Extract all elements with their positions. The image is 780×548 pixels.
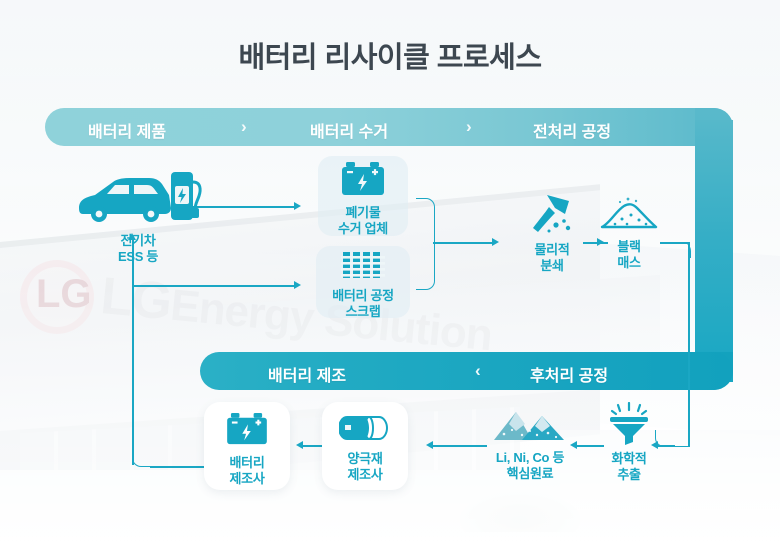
node-cathode-maker[interactable]: 양극재 제조사 bbox=[322, 413, 408, 483]
node-ev-label: 전기차 ESS 등 bbox=[68, 233, 208, 265]
powder-pile-icon bbox=[598, 195, 660, 233]
node-chemical-extraction-label: 화학적 추출 bbox=[592, 451, 666, 483]
node-battery-maker-label: 배터리 제조사 bbox=[204, 455, 290, 487]
node-key-raw-materials-label: Li, Ni, Co 등 핵심원료 bbox=[470, 450, 590, 482]
bottom-stage-chevron-1: ‹ bbox=[475, 361, 481, 381]
arrowhead-merge-to-crush bbox=[492, 238, 499, 246]
node-physical-crush[interactable]: 물리적 분쇄 bbox=[512, 192, 592, 274]
page-title: 배터리 리사이클 프로세스 bbox=[0, 34, 780, 76]
node-process-scrap-label: 배터리 공정 스크랩 bbox=[313, 288, 413, 320]
connector-return-riser bbox=[132, 240, 134, 465]
node-process-scrap[interactable]: 배터리 공정 스크랩 bbox=[313, 250, 413, 320]
node-key-raw-materials[interactable]: Li, Ni, Co 등 핵심원료 bbox=[470, 404, 590, 482]
electric-vehicle-charger-icon bbox=[73, 168, 203, 228]
node-cathode-maker-label: 양극재 제조사 bbox=[322, 451, 408, 483]
bottom-stage-label-1: 배터리 제조 bbox=[268, 362, 346, 386]
node-battery-maker[interactable]: 배터리 제조사 bbox=[204, 413, 290, 487]
connector-merge-to-crush bbox=[433, 242, 493, 244]
mineral-mountain-icon bbox=[492, 404, 568, 444]
top-stage-label-2: 배터리 수거 bbox=[310, 118, 388, 142]
connector-merge-bracket bbox=[416, 198, 435, 290]
top-stage-label-3: 전처리 공정 bbox=[533, 118, 611, 142]
cathode-roll-icon bbox=[339, 413, 391, 443]
connector-right-descender bbox=[688, 243, 690, 446]
infographic-canvas: LG LGEnergy Solution 배터리 리사이클 프로세스 배터리 제… bbox=[0, 0, 780, 548]
connector-bottom-left-elbow bbox=[132, 450, 153, 467]
connector-battery-left bbox=[150, 466, 205, 468]
top-stage-label-1: 배터리 제품 bbox=[88, 118, 166, 142]
node-waste-collector[interactable]: 폐기물 수거 업체 bbox=[313, 162, 413, 237]
top-stage-chevron-1: › bbox=[241, 117, 247, 137]
node-black-mass[interactable]: 블랙 매스 bbox=[590, 195, 668, 271]
node-chemical-extraction[interactable]: 화학적 추출 bbox=[592, 402, 666, 483]
arrowhead-return-to-scrap bbox=[294, 281, 301, 289]
car-battery-icon bbox=[224, 413, 270, 447]
arrowhead-raw-to-cathode bbox=[426, 441, 433, 449]
top-stage-chevron-2: › bbox=[466, 117, 472, 137]
connector-return-to-scrap bbox=[132, 285, 295, 287]
bottom-stage-label-2: 후처리 공정 bbox=[530, 362, 608, 386]
hammer-crush-icon bbox=[525, 192, 579, 236]
node-ev[interactable]: 전기차 ESS 등 bbox=[68, 168, 208, 265]
arrowhead-ev-to-collector bbox=[294, 202, 301, 210]
node-physical-crush-label: 물리적 분쇄 bbox=[512, 242, 592, 274]
arrowhead-cathode-to-battery bbox=[296, 441, 303, 449]
funnel-extraction-icon bbox=[605, 402, 653, 446]
node-waste-collector-label: 폐기물 수거 업체 bbox=[313, 205, 413, 237]
car-battery-icon bbox=[341, 162, 385, 198]
electrode-sheets-icon bbox=[341, 250, 385, 280]
node-black-mass-label: 블랙 매스 bbox=[590, 239, 668, 271]
